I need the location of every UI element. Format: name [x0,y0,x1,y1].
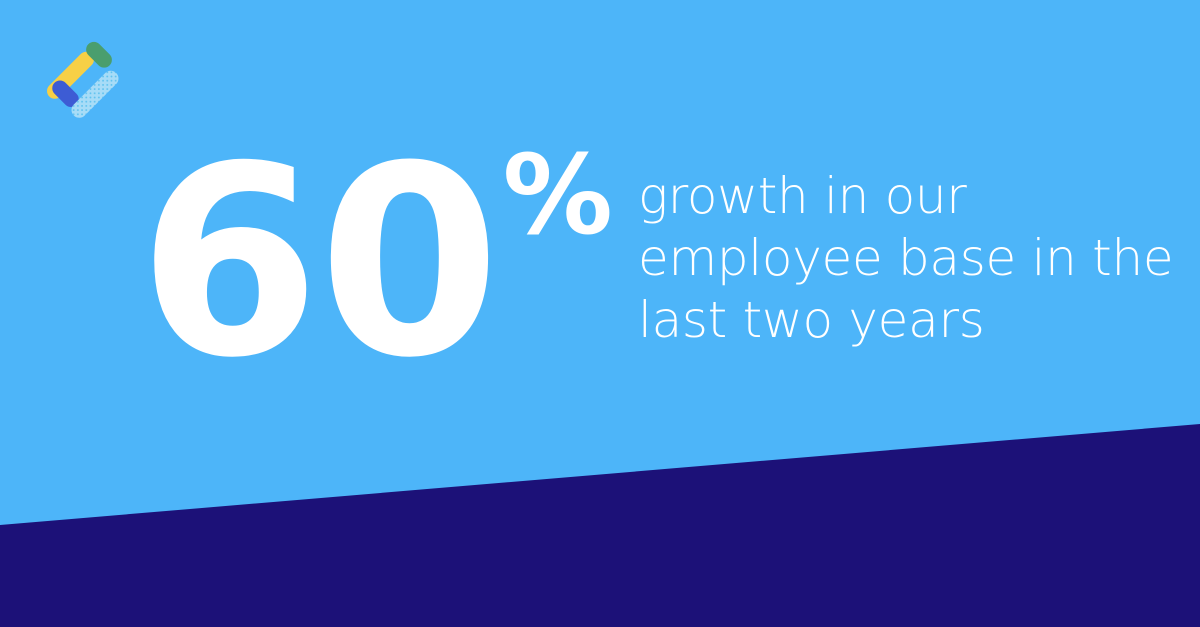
percent-symbol: % [503,131,613,259]
stat-number: 60 [138,110,499,415]
stat-value: 60% [138,132,609,394]
headline-line-3: last two years [638,289,1178,351]
infographic-canvas: 60% growth in our employee base in the l… [0,0,1200,627]
headline-line-1: growth in our [638,165,1178,227]
headline-line-2: employee base in the [638,227,1178,289]
headline: growth in our employee base in the last … [638,165,1178,351]
stat-row: 60% growth in our employee base in the l… [0,0,1200,460]
